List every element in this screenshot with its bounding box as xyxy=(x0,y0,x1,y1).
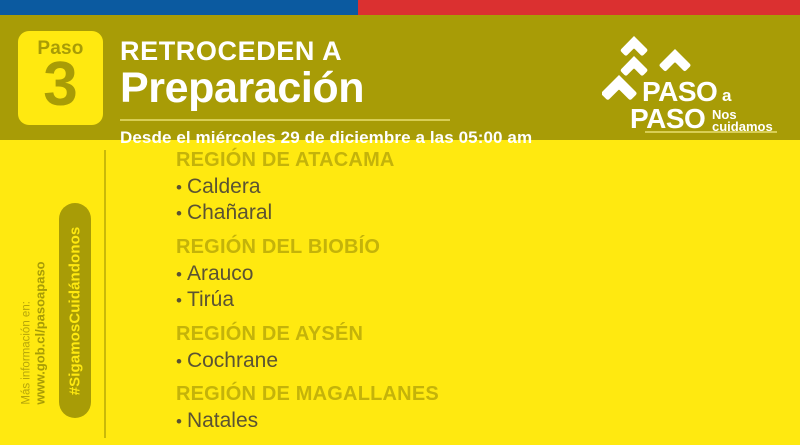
logo-wordmark: PASO a PASO Nos cuidamos xyxy=(602,73,782,135)
header-date: Desde el miércoles 29 de diciembre a las… xyxy=(120,128,580,148)
comuna-item: • Chañaral xyxy=(176,200,776,226)
comuna-label: Arauco xyxy=(187,261,254,287)
poster-root: Paso 3 RETROCEDEN A Preparación Desde el… xyxy=(0,0,800,445)
logo-divider xyxy=(645,131,777,133)
comuna-label: Tirúa xyxy=(187,287,234,313)
flag-stripe-red xyxy=(358,0,800,15)
sidebar-divider xyxy=(104,150,106,438)
region-block: REGIÓN DE ATACAMA • Caldera • Chañaral xyxy=(176,148,776,227)
comuna-label: Caldera xyxy=(187,174,261,200)
header-kicker: RETROCEDEN A xyxy=(120,37,580,65)
region-block: REGIÓN DE MAGALLANES • Natales xyxy=(176,382,776,434)
flag-stripe xyxy=(0,0,800,15)
paso-a-paso-logo: PASO a PASO Nos cuidamos xyxy=(602,35,782,135)
region-name: REGIÓN DE ATACAMA xyxy=(176,148,776,173)
header-text-block: RETROCEDEN A Preparación Desde el miérco… xyxy=(120,37,580,148)
hashtag-pill: #SigamosCuidándonos xyxy=(59,203,91,418)
hashtag-label: #SigamosCuidándonos xyxy=(67,226,84,395)
flag-stripe-blue xyxy=(0,0,358,15)
bullet-icon: • xyxy=(176,179,182,196)
header-band: Paso 3 RETROCEDEN A Preparación Desde el… xyxy=(0,15,800,140)
region-name: REGIÓN DE AYSÉN xyxy=(176,322,776,347)
comuna-item: • Tirúa xyxy=(176,287,776,313)
bullet-icon: • xyxy=(176,266,182,283)
comuna-item: • Natales xyxy=(176,408,776,434)
svg-text:PASO: PASO xyxy=(630,103,705,134)
svg-text:a: a xyxy=(722,86,732,105)
comuna-item: • Arauco xyxy=(176,261,776,287)
bullet-icon: • xyxy=(176,205,182,222)
comuna-list: • Caldera • Chañaral xyxy=(176,174,776,227)
sidebar: #SigamosCuidándonos Más información en: … xyxy=(0,140,106,445)
region-name: REGIÓN DE MAGALLANES xyxy=(176,382,776,407)
region-name: REGIÓN DEL BIOBÍO xyxy=(176,235,776,260)
header-divider xyxy=(120,119,450,121)
sidebar-info-block: Más información en: www.gob.cl/pasoapaso xyxy=(13,240,55,425)
paso-badge-number: 3 xyxy=(43,56,77,115)
region-block: REGIÓN DE AYSÉN • Cochrane xyxy=(176,322,776,374)
bullet-icon: • xyxy=(176,353,182,370)
bullet-icon: • xyxy=(176,292,182,309)
page-title: Preparación xyxy=(120,66,580,112)
paso-badge: Paso 3 xyxy=(18,31,103,125)
comuna-label: Chañaral xyxy=(187,200,272,226)
more-info-label: Más información en: xyxy=(19,301,33,405)
comuna-item: • Cochrane xyxy=(176,348,776,374)
comuna-list: • Natales xyxy=(176,408,776,434)
comuna-list: • Cochrane xyxy=(176,348,776,374)
comuna-label: Natales xyxy=(187,408,258,434)
comuna-list: • Arauco • Tirúa xyxy=(176,261,776,314)
bullet-icon: • xyxy=(176,413,182,430)
comuna-label: Cochrane xyxy=(187,348,278,374)
more-info-url[interactable]: www.gob.cl/pasoapaso xyxy=(34,261,49,404)
region-block: REGIÓN DEL BIOBÍO • Arauco • Tirúa xyxy=(176,235,776,314)
region-list: REGIÓN DE ATACAMA • Caldera • Chañaral R… xyxy=(176,148,776,435)
comuna-item: • Caldera xyxy=(176,174,776,200)
